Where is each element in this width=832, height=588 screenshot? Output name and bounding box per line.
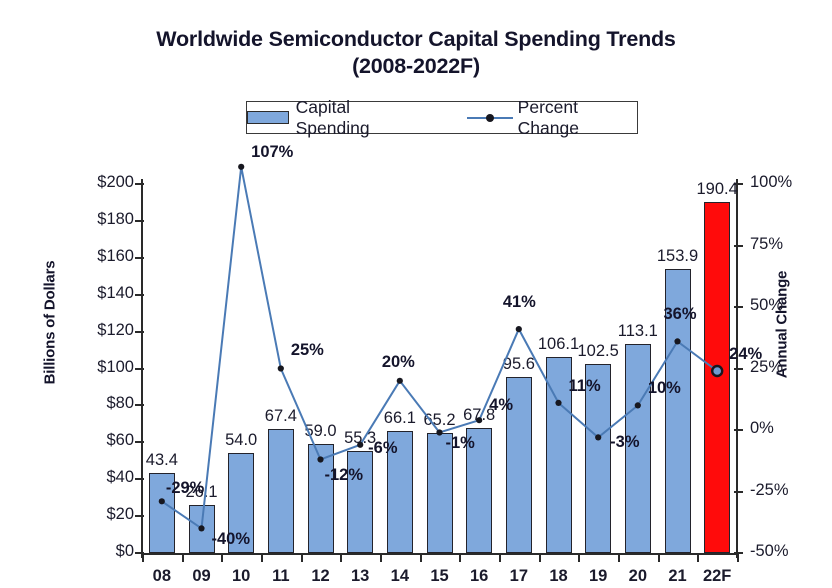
legend-label-percent-change: Percent Change xyxy=(518,97,637,139)
y-tick-label-right: 100% xyxy=(750,173,832,192)
legend-item-capital-spending: Capital Spending xyxy=(247,97,421,139)
x-tick xyxy=(261,553,263,562)
line-series-layer xyxy=(142,184,737,553)
chart-container: Worldwide Semiconductor Capital Spending… xyxy=(0,0,832,588)
y-tick-label-right: -50% xyxy=(750,542,832,561)
percent-change-label-19: -3% xyxy=(610,433,639,452)
data-point-17[interactable] xyxy=(516,326,522,332)
chart-title-main: Worldwide Semiconductor Capital Spending… xyxy=(0,26,832,53)
data-point-16[interactable] xyxy=(476,417,482,423)
x-tick xyxy=(578,553,580,562)
percent-change-label-18: 11% xyxy=(569,377,601,396)
data-point-11[interactable] xyxy=(278,365,284,371)
y-tick-label-left: $60 xyxy=(48,431,134,450)
y-tick-label-right: -25% xyxy=(750,481,832,500)
percent-change-label-22F: 24% xyxy=(729,345,762,364)
x-tick xyxy=(380,553,382,562)
chart-title: Worldwide Semiconductor Capital Spending… xyxy=(0,26,832,80)
plot-area: $0$20$40$60$80$100$120$140$160$180$200 -… xyxy=(142,184,737,553)
y-tick-label-left: $160 xyxy=(48,247,134,266)
x-tick xyxy=(658,553,660,562)
x-tick xyxy=(301,553,303,562)
y-tick-label-left: $100 xyxy=(48,358,134,377)
y-tick-label-left: $20 xyxy=(48,505,134,524)
data-point-20[interactable] xyxy=(635,402,641,408)
x-tick xyxy=(499,553,501,562)
percent-change-label-13: -6% xyxy=(368,439,397,458)
x-tick xyxy=(182,553,184,562)
y-tick-label-left: $180 xyxy=(48,210,134,229)
chart-title-subtitle: (2008-2022F) xyxy=(0,53,832,80)
y-tick-label-left: $0 xyxy=(48,542,134,561)
percent-change-label-10: 107% xyxy=(251,143,293,162)
data-point-18[interactable] xyxy=(555,400,561,406)
percent-change-label-20: 10% xyxy=(648,379,681,398)
x-axis xyxy=(141,553,738,555)
y-tick-label-left: $200 xyxy=(48,173,134,192)
x-tick xyxy=(697,553,699,562)
data-point-14[interactable] xyxy=(397,378,403,384)
x-tick xyxy=(539,553,541,562)
data-point-08[interactable] xyxy=(159,498,165,504)
bar-swatch-icon xyxy=(247,111,289,124)
x-tick xyxy=(459,553,461,562)
y-tick-label-right: 75% xyxy=(750,235,832,254)
x-tick xyxy=(142,553,144,562)
x-tick xyxy=(340,553,342,562)
percent-change-label-12: -12% xyxy=(325,466,364,485)
x-tick xyxy=(420,553,422,562)
legend-item-percent-change: Percent Change xyxy=(467,97,637,139)
percent-change-label-16: 4% xyxy=(489,396,513,415)
y-tick-label-right: 0% xyxy=(750,419,832,438)
y-tick-label-left: $40 xyxy=(48,468,134,487)
y-tick-label-left: $140 xyxy=(48,284,134,303)
data-point-21[interactable] xyxy=(674,338,680,344)
y-tick-label-left: $120 xyxy=(48,321,134,340)
percent-change-label-09: -40% xyxy=(212,530,251,549)
data-point-22F[interactable] xyxy=(712,366,722,376)
data-point-10[interactable] xyxy=(238,164,244,170)
percent-change-line xyxy=(162,167,717,529)
data-point-09[interactable] xyxy=(198,525,204,531)
percent-change-label-21: 36% xyxy=(664,305,697,324)
x-tick xyxy=(618,553,620,562)
percent-change-label-17: 41% xyxy=(503,293,536,312)
legend-label-capital-spending: Capital Spending xyxy=(296,97,422,139)
x-tick xyxy=(737,553,739,562)
y-tick-label-left: $80 xyxy=(48,394,134,413)
x-axis-label-22F: 22F xyxy=(687,567,747,586)
percent-change-label-15: -1% xyxy=(446,434,475,453)
x-tick xyxy=(221,553,223,562)
data-point-19[interactable] xyxy=(595,434,601,440)
data-point-15[interactable] xyxy=(436,429,442,435)
chart-legend: Capital Spending Percent Change xyxy=(246,101,638,134)
data-point-12[interactable] xyxy=(317,456,323,462)
data-point-13[interactable] xyxy=(357,442,363,448)
percent-change-label-14: 20% xyxy=(382,353,415,372)
percent-change-label-11: 25% xyxy=(291,341,324,360)
line-marker-icon xyxy=(467,111,510,124)
y-tick-label-right: 50% xyxy=(750,296,832,315)
percent-change-label-08: -29% xyxy=(166,479,205,498)
y-tick-label-right: 25% xyxy=(750,358,832,377)
y-axis-title-right: Annual Change xyxy=(774,195,791,455)
